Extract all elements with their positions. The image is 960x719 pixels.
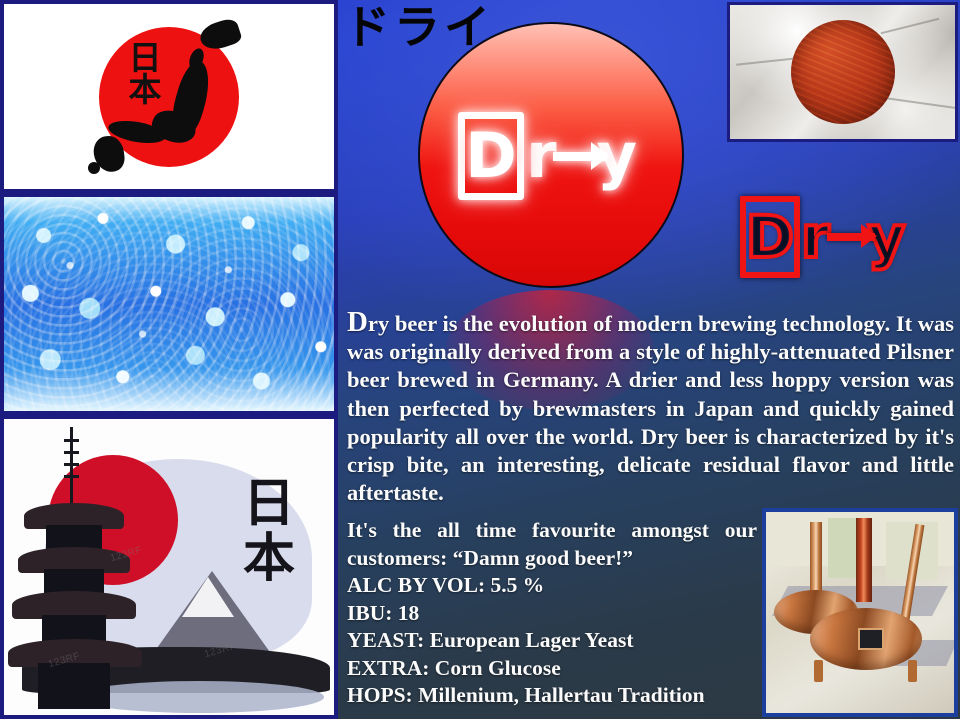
spec-row-alc-by-vol: ALC BY VOL: 5.5 % (347, 572, 757, 600)
kettle-leg (908, 660, 917, 682)
body-copy-paragraph: Dry beer is the evolution of modern brew… (347, 308, 954, 507)
kettle-gauge-panel (858, 628, 884, 650)
grunge-japan-flag-image (727, 2, 958, 142)
dry-logo-primary: D r y (458, 112, 637, 200)
spec-row-ibu: IBU: 18 (347, 600, 757, 628)
nihon-kanji-label: 日本 (240, 477, 298, 586)
logo-d-box-icon: D (458, 112, 524, 200)
pagoda-spire-ring (64, 451, 79, 454)
copper-brewing-kettles-image (762, 508, 958, 717)
pagoda-spire-ring (64, 439, 79, 442)
grunge-crack (881, 18, 940, 34)
fuji-snowcap-shape (182, 577, 234, 617)
left-image-column: 日本 (0, 0, 338, 719)
pagoda-spire-ring (64, 475, 79, 478)
kettle-chimney-front (856, 518, 872, 602)
flag-sun-disc-icon (791, 20, 895, 124)
logo-letter-d: D (746, 208, 794, 266)
logo-letter-d: D (465, 125, 516, 187)
page-title: ドライ (344, 4, 494, 50)
spec-row-hops: HOPS: Millenium, Hallertau Tradition (347, 682, 757, 710)
bubble-ripple-overlay (4, 197, 334, 411)
pagoda-spire-ring (64, 463, 79, 466)
logo-arrow-icon (553, 152, 607, 161)
beer-specs-block: It's the all time favourite amongst our … (347, 517, 757, 710)
kettle-chimney-rear (810, 522, 822, 594)
poster-canvas: 日本 (0, 0, 960, 719)
customer-quote-line: It's the all time favourite amongst our … (347, 517, 757, 572)
logo-d-box-icon: D (740, 196, 800, 278)
spec-row-yeast: YEAST: European Lager Yeast (347, 627, 757, 655)
water-reflection-shape (74, 681, 324, 713)
drop-cap: D (347, 306, 368, 338)
logo-arrow-icon (827, 233, 875, 241)
pagoda-base (38, 663, 110, 709)
kettle-leg (814, 660, 823, 682)
nihon-kanji-label: 日本 (122, 42, 168, 107)
dry-logo-secondary: D r y (740, 196, 905, 278)
japan-map-image: 日本 (0, 0, 338, 193)
body-copy-text: ry beer is the evolution of modern brewi… (347, 311, 954, 505)
blue-bubble-texture-image (0, 193, 338, 415)
shikoku-shape (88, 162, 100, 174)
pagoda-fuji-image: 日本 123RF 123RF 123RF (0, 415, 338, 719)
spec-row-extra: EXTRA: Corn Glucose (347, 655, 757, 683)
logo-letter-r: r (801, 208, 830, 266)
